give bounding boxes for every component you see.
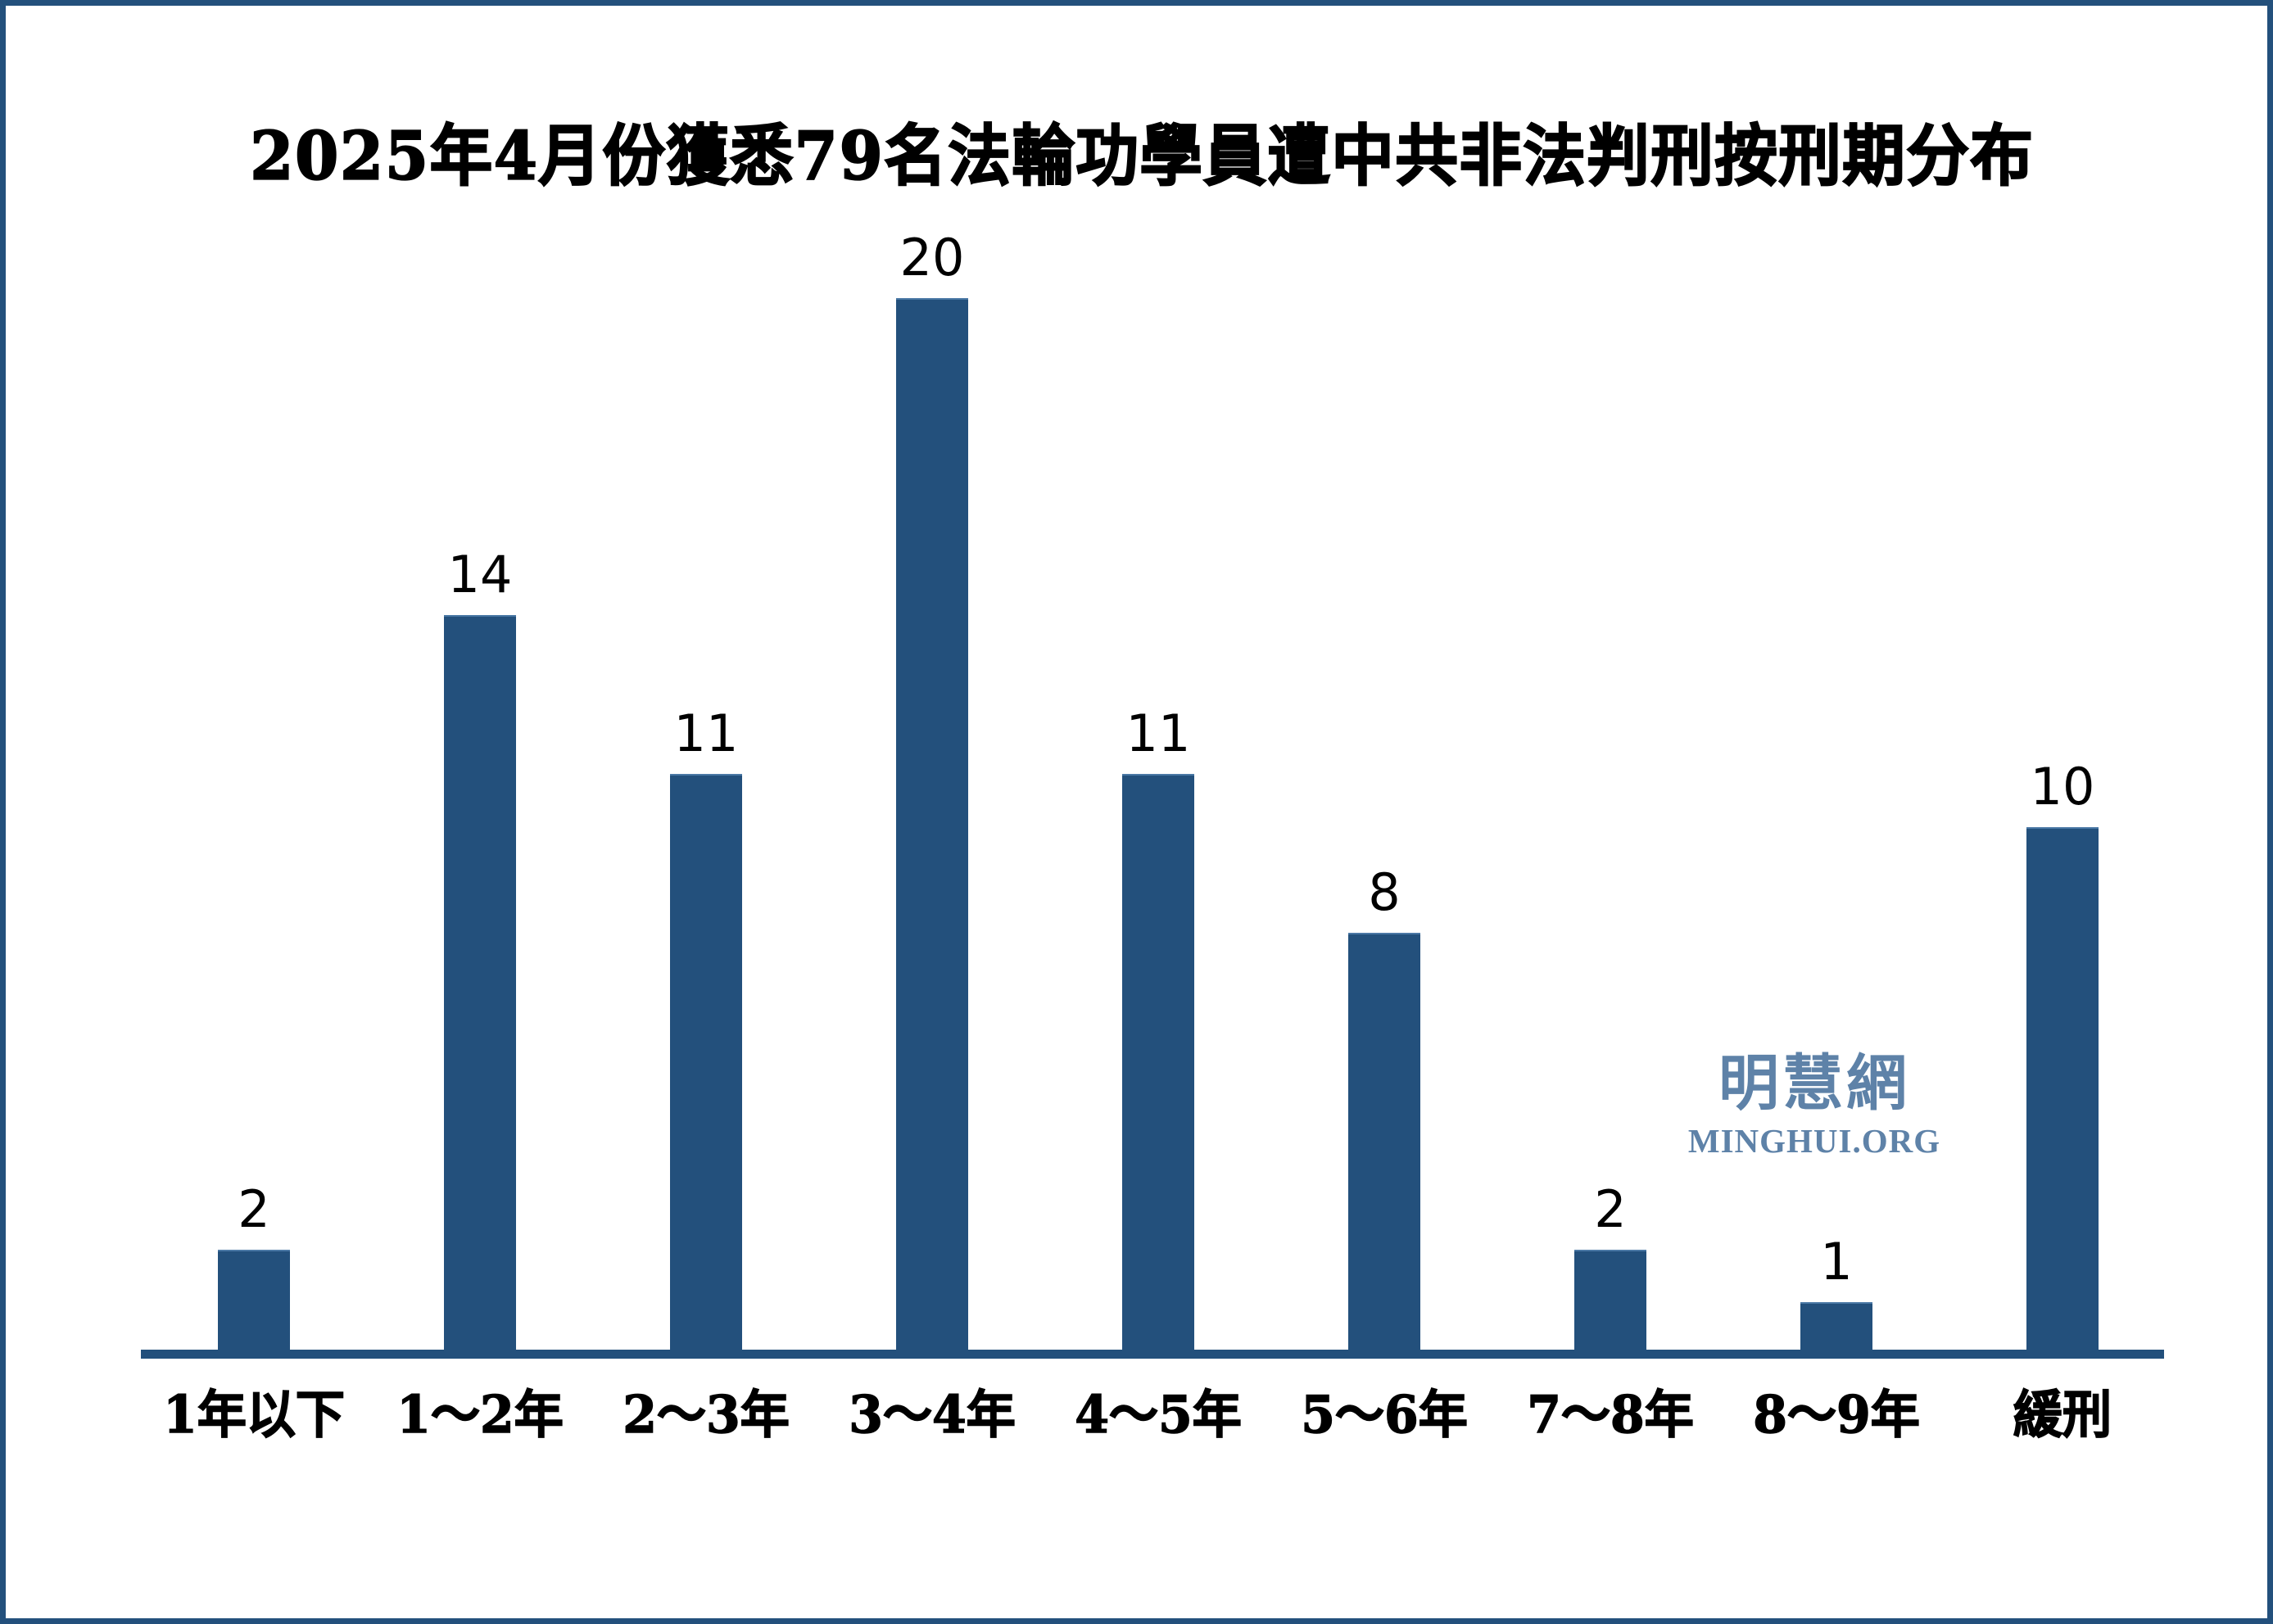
bar[interactable] xyxy=(444,615,516,1357)
x-tick-label: 1年以下 xyxy=(163,1373,345,1447)
bar-slot: 8 xyxy=(1271,251,1497,1357)
x-tick-slot: 1年以下 xyxy=(141,1375,367,1446)
page-title: 2025年4月份獲悉79名法輪功學員遭中共非法判刑按刑期分布 xyxy=(6,102,2273,198)
x-tick-slot: 8～9年 xyxy=(1723,1375,1949,1446)
x-tick-slot: 2～3年 xyxy=(593,1375,819,1446)
x-axis-labels: 1年以下 1～2年 2～3年 3～4年 4～5年 5～6年 7～8年 8～9年 … xyxy=(141,1375,2164,1465)
bar-value-label: 20 xyxy=(900,233,965,283)
bar[interactable] xyxy=(1348,933,1420,1357)
bar-slot: 1 xyxy=(1723,251,1949,1357)
bar-slot: 20 xyxy=(819,251,1045,1357)
x-tick-label: 4～5年 xyxy=(1075,1373,1242,1447)
bar[interactable] xyxy=(218,1250,290,1357)
bar[interactable] xyxy=(896,298,968,1357)
bar-value-label: 10 xyxy=(2031,762,2095,812)
bar-slot: 10 xyxy=(1949,251,2176,1357)
watermark-chinese-text: 明慧網 xyxy=(1667,1052,1962,1116)
x-tick-slot: 5～6年 xyxy=(1271,1375,1497,1446)
bar-slot: 2 xyxy=(141,251,367,1357)
x-tick-label: 1～2年 xyxy=(396,1373,564,1447)
bar-value-label: 2 xyxy=(238,1184,269,1235)
bar-slot: 14 xyxy=(367,251,593,1357)
x-tick-slot: 1～2年 xyxy=(367,1375,593,1446)
x-tick-slot: 3～4年 xyxy=(819,1375,1045,1446)
chart-page: 2025年4月份獲悉79名法輪功學員遭中共非法判刑按刑期分布 2 14 11 2… xyxy=(0,0,2273,1624)
minghui-watermark: 明慧網 MINGHUI.ORG xyxy=(1667,1052,1962,1161)
x-tick-slot: 4～5年 xyxy=(1045,1375,1271,1446)
bar-value-label: 14 xyxy=(448,550,513,600)
plot-area: 2 14 11 20 11 8 2 1 xyxy=(141,251,2164,1357)
x-axis-line xyxy=(141,1350,2164,1359)
bar-value-label: 11 xyxy=(1126,708,1191,759)
bar[interactable] xyxy=(1574,1250,1646,1357)
x-tick-label: 3～4年 xyxy=(849,1373,1016,1447)
x-tick-label: 7～8年 xyxy=(1527,1373,1694,1447)
bar[interactable] xyxy=(670,774,742,1357)
watermark-english-text: MINGHUI.ORG xyxy=(1667,1121,1962,1161)
x-tick-slot: 7～8年 xyxy=(1497,1375,1723,1446)
bar-slot: 11 xyxy=(1045,251,1271,1357)
bar-value-label: 1 xyxy=(1820,1237,1852,1287)
bar-value-label: 2 xyxy=(1594,1184,1626,1235)
bar-value-label: 8 xyxy=(1368,867,1400,918)
x-tick-label: 8～9年 xyxy=(1753,1373,1920,1447)
x-tick-label: 緩刑 xyxy=(2013,1373,2112,1447)
x-tick-label: 5～6年 xyxy=(1301,1373,1468,1447)
x-tick-label: 2～3年 xyxy=(623,1373,790,1447)
bar-slot: 11 xyxy=(593,251,819,1357)
bar[interactable] xyxy=(1122,774,1194,1357)
x-tick-slot: 緩刑 xyxy=(1949,1375,2176,1446)
bar-slot: 2 xyxy=(1497,251,1723,1357)
bar-value-label: 11 xyxy=(674,708,739,759)
bar[interactable] xyxy=(2026,827,2099,1358)
